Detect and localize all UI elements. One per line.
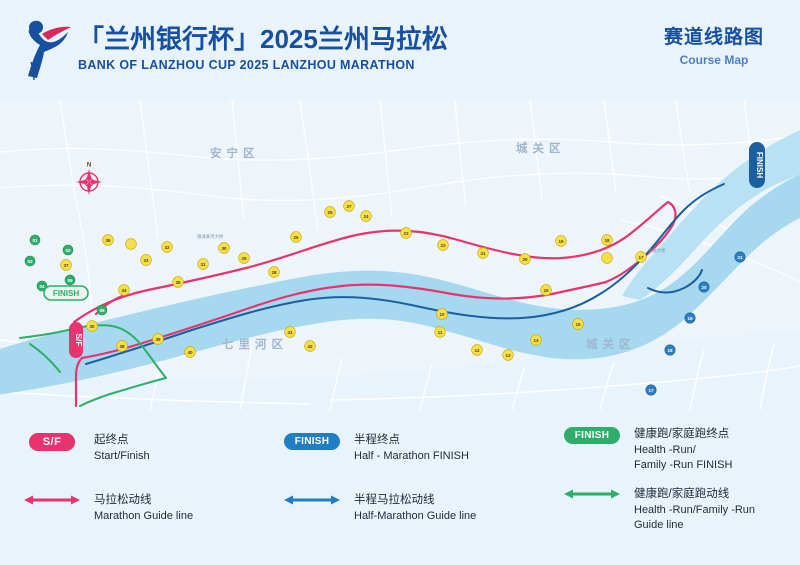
svg-text:11: 11 [438,330,443,335]
course-map-title-en: Course Map [664,51,764,69]
km-marker[interactable]: 27 [344,201,355,212]
district-label-anning: 安宁区 [210,146,260,160]
svg-text:24: 24 [363,214,369,219]
svg-text:14: 14 [533,338,539,343]
km-marker-blue[interactable]: 21 [735,252,745,262]
km-marker[interactable]: 26 [291,232,302,243]
course-map-canvas[interactable]: N 安宁区 城关区 七里河区 城关区 银滩黄河大桥 金雁大桥 10 11 12 … [0,100,800,410]
svg-text:06: 06 [99,308,105,313]
svg-text:21: 21 [737,255,743,260]
km-marker[interactable]: 29 [239,253,250,264]
bridge-label-jinyan: 金雁大桥 [648,247,666,254]
legend-half-finish-badge-label: FINISH [284,433,341,450]
km-marker[interactable]: 20 [520,254,531,265]
km-marker[interactable]: 30 [219,243,230,254]
course-map-svg[interactable]: N 安宁区 城关区 七里河区 城关区 银滩黄河大桥 金雁大桥 10 11 12 … [0,100,800,410]
legend-half-finish-cn: 半程终点 [354,433,469,449]
km-marker[interactable]: 42 [305,341,316,352]
legend-health-finish-en-1: Health -Run/ [634,443,732,459]
svg-text:12: 12 [474,348,480,353]
km-marker[interactable]: 19 [556,236,567,247]
compass-north-label: N [87,163,91,169]
legend-half-finish[interactable]: FINISH 半程终点 Half - Marathon FINISH [280,433,469,464]
km-marker[interactable]: 32 [162,242,173,253]
legend-half-finish-badge: FINISH [280,433,344,450]
event-title: 「兰州银行杯」2025兰州马拉松 BANK OF LANZHOU CUP 202… [78,24,448,74]
legend-health-arrow [560,487,624,501]
svg-text:32: 32 [164,245,170,250]
legend-health-line-text: 健康跑/家庭跑动线 Health -Run/Family -Run Guide … [634,487,755,534]
km-marker-green[interactable]: 03 [25,256,35,266]
svg-text:02: 02 [65,248,71,253]
km-marker[interactable]: 36 [103,235,114,246]
svg-text:19: 19 [687,316,693,321]
svg-text:40: 40 [187,350,193,355]
km-marker-green[interactable]: 01 [30,235,40,245]
svg-text:31: 31 [200,262,206,267]
svg-text:01: 01 [32,238,38,243]
legend-health-finish[interactable]: FINISH 健康跑/家庭跑终点 Health -Run/ Family -Ru… [560,427,732,474]
svg-text:18: 18 [604,238,610,243]
svg-text:41: 41 [287,330,293,335]
svg-text:13: 13 [505,353,511,358]
svg-text:16: 16 [543,288,549,293]
svg-text:33: 33 [143,258,149,263]
legend-sf-badge-label: S/F [29,433,76,451]
km-marker[interactable]: 18 [602,235,613,246]
km-marker[interactable]: 40 [185,347,196,358]
km-marker[interactable]: 13 [503,350,514,361]
km-marker[interactable]: 35 [173,277,184,288]
health-run-finish-label: FINISH [53,289,79,298]
svg-text:03: 03 [27,259,33,264]
km-marker-green[interactable]: 06 [97,305,107,315]
event-title-en: BANK OF LANZHOU CUP 2025 LANZHOU MARATHO… [78,56,448,74]
svg-text:36: 36 [105,238,111,243]
half-marathon-finish-label: FINISH [755,152,764,178]
legend-marathon-arrow [20,493,84,507]
svg-text:23: 23 [403,231,409,236]
svg-text:34: 34 [121,288,127,293]
km-marker-green[interactable]: 02 [63,245,73,255]
health-run-finish-badge[interactable]: FINISH [44,286,88,300]
km-marker[interactable]: 37 [126,239,137,250]
svg-text:28: 28 [271,270,277,275]
double-arrow-icon [564,487,620,501]
svg-text:04: 04 [39,284,45,289]
km-marker[interactable]: 16 [541,285,552,296]
svg-text:19: 19 [558,239,564,244]
km-marker[interactable]: 10 [437,309,448,320]
km-marker-blue[interactable]: 18 [665,345,675,355]
km-marker[interactable]: 37 [61,260,72,271]
km-marker[interactable]: 41 [285,327,296,338]
start-finish-badge-label: S/F [74,333,84,346]
legend-half-line-text: 半程马拉松动线 Half-Marathon Guide line [354,493,476,524]
svg-text:20: 20 [522,257,528,262]
legend-half-line-cn: 半程马拉松动线 [354,493,476,509]
legend-half-finish-en: Half - Marathon FINISH [354,449,469,465]
legend-column-2: FINISH 半程终点 Half - Marathon FINISH 半程马拉松… [280,415,530,565]
svg-text:35: 35 [175,280,181,285]
legend-marathon-line[interactable]: 马拉松动线 Marathon Guide line [20,493,193,524]
svg-text:10: 10 [439,312,445,317]
km-marker[interactable]: 15 [573,319,584,330]
legend-health-run-line[interactable]: 健康跑/家庭跑动线 Health -Run/Family -Run Guide … [560,487,755,534]
svg-text:22: 22 [440,243,446,248]
svg-text:18: 18 [667,348,673,353]
svg-text:17: 17 [638,255,644,260]
double-arrow-icon [284,493,340,507]
legend-health-finish-cn: 健康跑/家庭跑终点 [634,427,732,443]
km-marker[interactable]: 34 [119,285,130,296]
legend-half-arrow [280,493,344,507]
km-marker[interactable]: 38 [117,341,128,352]
event-title-cn: 「兰州银行杯」2025兰州马拉松 [78,24,448,54]
start-finish-badge[interactable]: S/F [69,322,84,358]
km-marker[interactable]: 25 [325,207,336,218]
km-marker-blue[interactable]: 17 [646,385,656,395]
svg-text:39: 39 [155,337,161,342]
legend-sf-en: Start/Finish [94,449,150,465]
legend-health-line-en-2: Guide line [634,518,755,534]
legend-health-finish-badge-label: FINISH [564,427,621,444]
km-marker[interactable]: 24 [361,211,372,222]
km-marker[interactable]: 23 [401,228,412,239]
course-map-title-cn: 赛道线路图 [664,26,764,50]
legend-health-finish-text: 健康跑/家庭跑终点 Health -Run/ Family -Run FINIS… [634,427,732,474]
svg-text:42: 42 [307,344,313,349]
km-marker[interactable]: 28 [269,267,280,278]
legend-sf-text: 起终点 Start/Finish [94,433,150,464]
bridge-label-yintan: 银滩黄河大桥 [197,233,224,240]
svg-text:30: 30 [221,246,227,251]
district-label-chengguan-s: 城关区 [586,337,636,351]
svg-text:38: 38 [119,344,125,349]
legend-marathon-en: Marathon Guide line [94,509,193,525]
km-marker[interactable]: 17 [636,252,647,263]
svg-text:25: 25 [327,210,333,215]
km-marker[interactable]: 19 [602,253,613,264]
svg-text:17: 17 [648,388,654,393]
km-marker[interactable]: 22 [438,240,449,251]
svg-text:20: 20 [701,285,707,290]
svg-text:27: 27 [346,204,352,209]
runner-logo-icon [22,18,74,80]
legend-start-finish[interactable]: S/F 起终点 Start/Finish [20,433,150,464]
district-label-chengguan-n: 城关区 [516,141,566,155]
legend-column-1: S/F 起终点 Start/Finish 马拉松动线 Marathon Guid… [20,415,270,565]
km-marker-green[interactable]: 05 [65,275,75,285]
km-marker[interactable]: 30 [87,321,98,332]
km-marker[interactable]: 12 [472,345,483,356]
district-label-qilihe: 七里河区 [222,337,288,351]
map-legend: S/F 起终点 Start/Finish 马拉松动线 Marathon Guid… [0,415,800,565]
legend-health-line-en-1: Health -Run/Family -Run [634,503,755,519]
page-header: 「兰州银行杯」2025兰州马拉松 BANK OF LANZHOU CUP 202… [0,0,800,100]
legend-health-finish-badge: FINISH [560,427,624,444]
svg-text:30: 30 [89,324,95,329]
km-marker[interactable]: 14 [531,335,542,346]
km-marker-blue[interactable]: 20 [699,282,709,292]
legend-sf-badge: S/F [20,433,84,451]
legend-health-finish-en-2: Family -Run FINISH [634,458,732,474]
km-marker-blue[interactable]: 19 [685,313,695,323]
km-marker[interactable]: 39 [153,334,164,345]
legend-half-marathon-line[interactable]: 半程马拉松动线 Half-Marathon Guide line [280,493,476,524]
legend-marathon-text: 马拉松动线 Marathon Guide line [94,493,193,524]
svg-text:05: 05 [67,278,73,283]
legend-health-line-cn: 健康跑/家庭跑动线 [634,487,755,503]
svg-text:15: 15 [575,322,581,327]
legend-sf-cn: 起终点 [94,433,150,449]
legend-half-line-en: Half-Marathon Guide line [354,509,476,525]
svg-text:21: 21 [480,251,486,256]
svg-text:37: 37 [63,263,69,268]
km-marker[interactable]: 21 [478,248,489,259]
svg-text:29: 29 [241,256,247,261]
legend-column-3: FINISH 健康跑/家庭跑终点 Health -Run/ Family -Ru… [560,415,800,565]
course-map-title: 赛道线路图 Course Map [664,26,764,69]
svg-text:26: 26 [293,235,299,240]
km-marker[interactable]: 31 [198,259,209,270]
double-arrow-icon [24,493,80,507]
half-marathon-finish-badge[interactable]: FINISH [749,142,765,188]
legend-marathon-cn: 马拉松动线 [94,493,193,509]
legend-half-finish-text: 半程终点 Half - Marathon FINISH [354,433,469,464]
km-marker[interactable]: 33 [141,255,152,266]
km-marker[interactable]: 11 [435,327,446,338]
